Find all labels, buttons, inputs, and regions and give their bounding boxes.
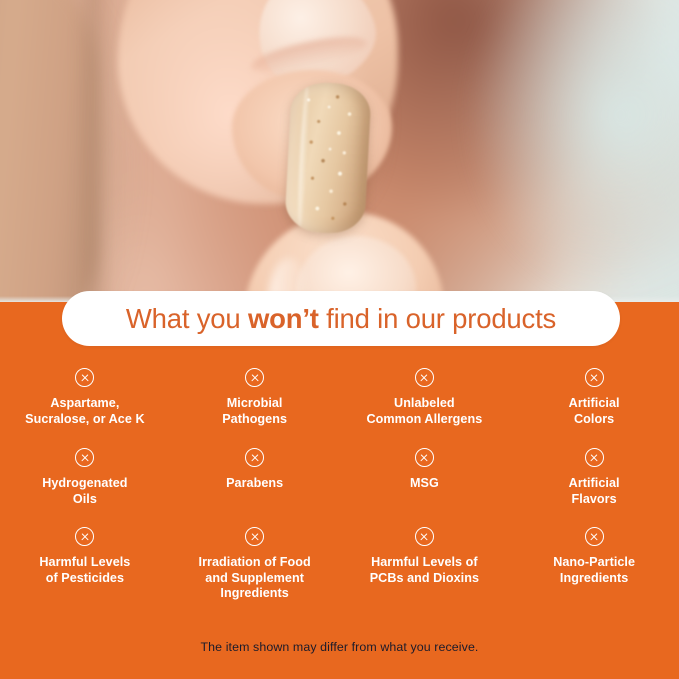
excluded-item-label: Irradiation of Food and Supplement Ingre…: [199, 555, 311, 602]
excluded-item: Nano-Particle Ingredients: [509, 527, 679, 602]
disclaimer-text: The item shown may differ from what you …: [0, 640, 679, 654]
tablet-speckles: [284, 81, 372, 235]
excluded-item: Harmful Levels of PCBs and Dioxins: [340, 527, 510, 602]
excluded-item-label: Artificial Flavors: [569, 476, 620, 507]
excluded-ingredients-row-2: Hydrogenated Oils Parabens MSG Artificia…: [0, 448, 679, 527]
excluded-ingredients-row-1: Aspartame, Sucralose, or Ace K Microbial…: [0, 368, 679, 448]
circle-x-icon: [75, 368, 94, 387]
circle-x-icon: [415, 368, 434, 387]
excluded-item-label: Nano-Particle Ingredients: [553, 555, 635, 586]
circle-x-icon: [245, 368, 264, 387]
excluded-item: Unlabeled Common Allergens: [340, 368, 510, 448]
excluded-ingredients-row-3: Harmful Levels of Pesticides Irradiation…: [0, 527, 679, 602]
excluded-item: Parabens: [170, 448, 340, 527]
circle-x-icon: [245, 448, 264, 467]
circle-x-icon: [75, 448, 94, 467]
page-title: What you won’t find in our products: [126, 303, 556, 335]
background-finger-shadow: [86, 0, 112, 302]
excluded-item-label: Unlabeled Common Allergens: [366, 396, 482, 427]
excluded-item-label: Harmful Levels of Pesticides: [39, 555, 130, 586]
excluded-item: Irradiation of Food and Supplement Ingre…: [170, 527, 340, 602]
circle-x-icon: [415, 527, 434, 546]
excluded-item: Hydrogenated Oils: [0, 448, 170, 527]
excluded-item: Aspartame, Sucralose, or Ace K: [0, 368, 170, 448]
page-title-prefix: What you: [126, 303, 248, 334]
excluded-item-label: Harmful Levels of PCBs and Dioxins: [370, 555, 479, 586]
circle-x-icon: [415, 448, 434, 467]
circle-x-icon: [585, 368, 604, 387]
circle-x-icon: [75, 527, 94, 546]
excluded-item-label: Artificial Colors: [569, 396, 620, 427]
circle-x-icon: [585, 448, 604, 467]
excluded-item: Artificial Colors: [509, 368, 679, 448]
excluded-item-label: MSG: [410, 476, 439, 492]
excluded-item-label: Hydrogenated Oils: [42, 476, 127, 507]
excluded-ingredients-panel: Aspartame, Sucralose, or Ace K Microbial…: [0, 302, 679, 679]
background-finger: [0, 0, 98, 302]
page-title-suffix: find in our products: [319, 303, 556, 334]
hero-photo: [0, 0, 679, 302]
excluded-item: Artificial Flavors: [509, 448, 679, 527]
excluded-item-label: Aspartame, Sucralose, or Ace K: [25, 396, 144, 427]
excluded-item-label: Parabens: [226, 476, 283, 492]
excluded-item: Harmful Levels of Pesticides: [0, 527, 170, 602]
excluded-item: MSG: [340, 448, 510, 527]
circle-x-icon: [245, 527, 264, 546]
page-title-emphasis: won’t: [248, 303, 319, 334]
excluded-item: Microbial Pathogens: [170, 368, 340, 448]
product-infographic: What you won’t find in our products Aspa…: [0, 0, 679, 679]
headline-banner: What you won’t find in our products: [62, 291, 620, 346]
tablet: [284, 81, 372, 235]
circle-x-icon: [585, 527, 604, 546]
excluded-item-label: Microbial Pathogens: [222, 396, 287, 427]
